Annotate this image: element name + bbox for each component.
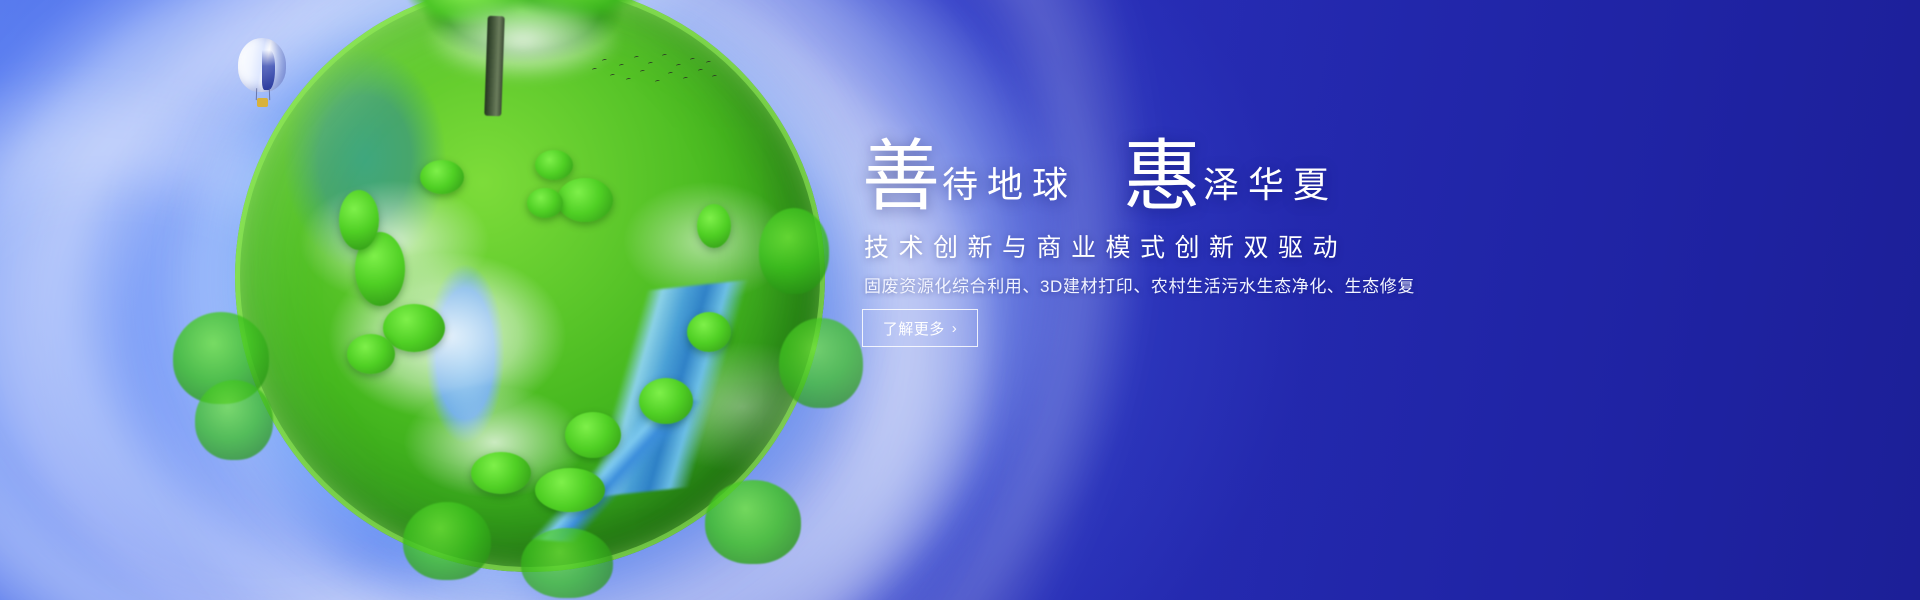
headline-rest-chars: 泽华夏 bbox=[1203, 167, 1338, 203]
headline-phrase-2: 惠泽华夏 bbox=[1123, 132, 1338, 210]
banner-content: 善待地球 惠泽华夏 技术创新与商业模式创新双驱动 固废资源化综合利用、3D建材打… bbox=[862, 0, 1642, 600]
headline-lead-char: 惠 bbox=[1123, 138, 1201, 216]
learn-more-button[interactable]: 了解更多 › bbox=[862, 309, 978, 347]
headline-lead-char: 善 bbox=[862, 138, 940, 216]
eco-hero-banner: 善待地球 惠泽华夏 技术创新与商业模式创新双驱动 固废资源化综合利用、3D建材打… bbox=[0, 0, 1920, 600]
banner-description: 固废资源化综合利用、3D建材打印、农村生活污水生态净化、生态修复 bbox=[864, 272, 1415, 297]
learn-more-label: 了解更多 bbox=[883, 318, 945, 339]
page-title: 善待地球 惠泽华夏 bbox=[862, 132, 1338, 210]
headline-phrase-1: 善待地球 bbox=[862, 132, 1077, 210]
bird-flock-icon bbox=[588, 50, 718, 94]
headline-rest-chars: 待地球 bbox=[942, 167, 1077, 203]
chevron-right-icon: › bbox=[952, 321, 958, 336]
banner-subtitle: 技术创新与商业模式创新双驱动 bbox=[864, 228, 1347, 264]
